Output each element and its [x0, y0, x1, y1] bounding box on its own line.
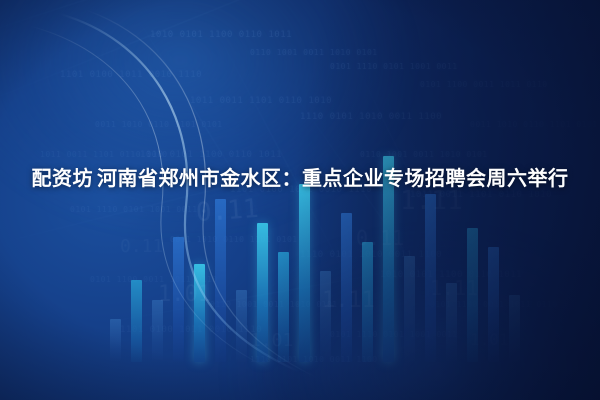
- background-right-shade: [0, 0, 600, 400]
- promo-banner-image: 1010 0101 1100 0110 10110110 1001 0011 1…: [0, 0, 600, 400]
- headline-title: 河南省郑州市金水区：重点企业专场招聘会周六举行: [97, 166, 569, 190]
- brand-label: 配资坊: [32, 166, 94, 190]
- headline-text: 配资坊河南省郑州市金水区：重点企业专场招聘会周六举行: [0, 160, 600, 196]
